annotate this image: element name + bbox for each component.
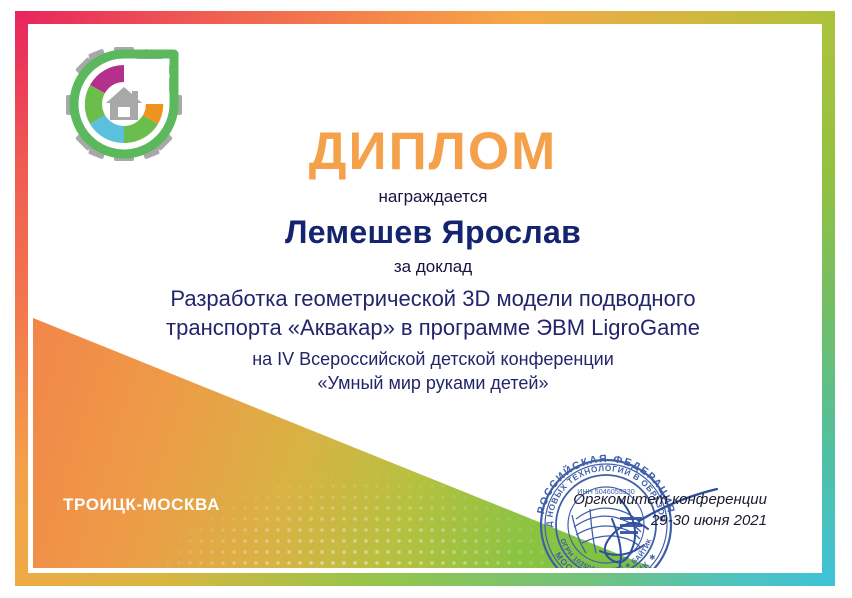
page-title: ДИПЛОМ [113, 124, 753, 180]
certificate-content: ДИПЛОМ награждается Лемешев Ярослав за д… [113, 124, 753, 396]
signature-organization: Оргкомитет конференции [573, 489, 767, 511]
work-title-line-1: Разработка геометрической 3D модели подв… [113, 284, 753, 313]
frame-border-left [15, 11, 28, 586]
signature-caption: Оргкомитет конференции 29-30 июня 2021 [573, 489, 767, 533]
conference-name: на IV Всероссийской детской конференции … [113, 348, 753, 396]
frame-border-top [15, 11, 835, 24]
certificate-body: ТРОИЦК-МОСКВА [33, 29, 819, 568]
conference-line-1: на IV Всероссийской детской конференции [113, 348, 753, 372]
frame-border-bottom [15, 573, 835, 586]
for-label: за доклад [113, 257, 753, 277]
certificate-page: ТРОИЦК-МОСКВА [0, 0, 852, 598]
recipient-name: Лемешев Ярослав [113, 213, 753, 251]
signature-date: 29-30 июня 2021 [573, 510, 767, 532]
awarded-to-label: награждается [113, 187, 753, 207]
frame-border-right [822, 11, 835, 586]
conference-line-2: «Умный мир руками детей» [113, 372, 753, 396]
city-label: ТРОИЦК-МОСКВА [63, 495, 220, 515]
work-title-line-2: транспорта «Аквакар» в программе ЭВМ Lig… [113, 313, 753, 342]
work-title: Разработка геометрической 3D модели подв… [113, 284, 753, 342]
